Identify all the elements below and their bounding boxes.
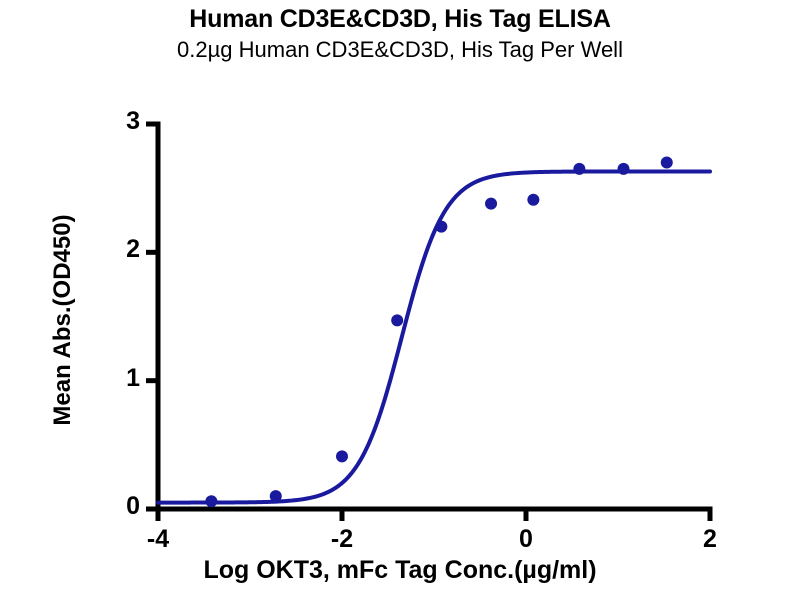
data-point-7 <box>573 163 585 175</box>
y-tick-label-0: 0 <box>104 492 140 521</box>
data-point-5 <box>485 198 497 210</box>
axes-group <box>146 122 713 522</box>
x-tick-label-3: 2 <box>687 525 733 554</box>
y-tick-label-1: 1 <box>104 364 140 393</box>
data-points-group <box>205 157 672 508</box>
data-point-3 <box>391 314 403 326</box>
x-tick-label-1: -2 <box>319 525 365 554</box>
x-tick-label-0: -4 <box>135 525 181 554</box>
y-tick-label-2: 2 <box>104 235 140 264</box>
fit-curve <box>158 171 710 502</box>
data-point-4 <box>435 221 447 233</box>
x-tick-label-2: 0 <box>503 525 549 554</box>
data-point-0 <box>205 495 217 507</box>
data-point-2 <box>336 450 348 462</box>
data-point-9 <box>661 157 673 169</box>
y-axis-label: Mean Abs.(OD450) <box>46 160 80 480</box>
y-tick-label-3: 3 <box>104 107 140 136</box>
data-point-6 <box>527 194 539 206</box>
elisa-chart-figure: Human CD3E&CD3D, His Tag ELISA 0.2µg Hum… <box>0 0 800 600</box>
x-axis-label: Log OKT3, mFc Tag Conc.(µg/ml) <box>0 556 800 585</box>
fit-curve-group <box>158 171 710 502</box>
data-point-1 <box>270 490 282 502</box>
data-point-8 <box>618 163 630 175</box>
